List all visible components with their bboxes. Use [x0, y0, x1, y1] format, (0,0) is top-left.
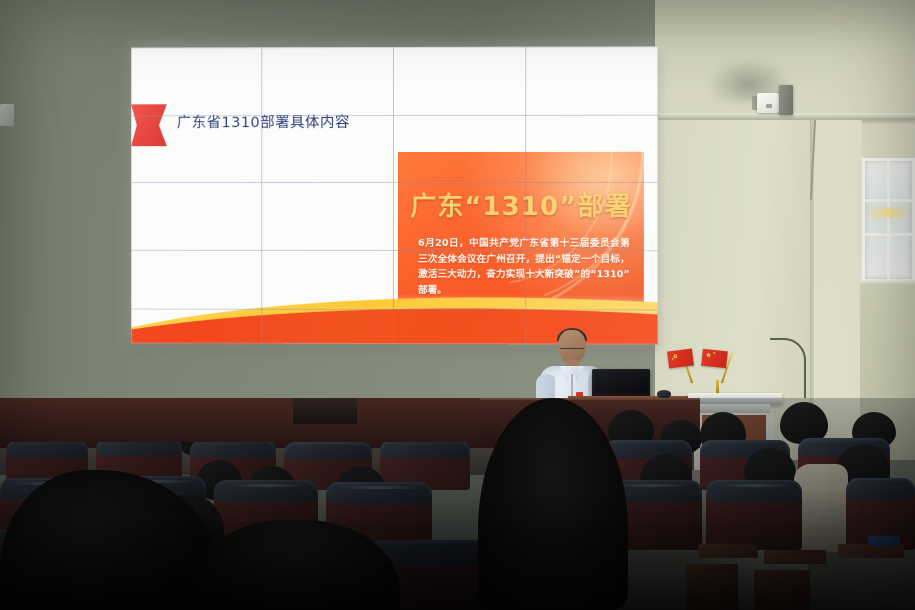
panel-seam-h2	[131, 182, 658, 183]
seat-headrest	[6, 440, 88, 458]
card-body-text: 6月20日，中国共产党广东省第十三届委员会第三次全体会议在广州召开，提出“锚定一…	[418, 236, 630, 298]
glasses-icon	[560, 343, 584, 349]
wall-box-left	[0, 104, 14, 126]
desktop-monitor	[592, 369, 650, 399]
seat-highlight	[226, 484, 308, 487]
star-icon: ★	[705, 352, 712, 360]
ceiling-shadow	[655, 0, 915, 48]
slide-flag-accent-icon	[131, 104, 167, 146]
small-star-icon: ★	[712, 352, 716, 356]
seat-armrest	[764, 550, 826, 564]
window-mullion-v1	[887, 161, 890, 279]
seat-highlight	[338, 486, 422, 489]
cpc-party-flag-icon: ☭	[667, 349, 694, 369]
window-light-reflection	[866, 208, 911, 218]
video-wall-screen[interactable]: 广东省1310部署具体内容 广东“1310”部署 6月20日，中国共产党广东省第…	[131, 46, 658, 344]
seat-highlight	[614, 484, 692, 487]
wall-speaker-icon	[779, 85, 793, 115]
seat-armrest	[838, 544, 904, 558]
seat-headrest	[604, 440, 692, 458]
computer-mouse-icon	[657, 390, 671, 398]
wireless-access-point-icon	[757, 93, 779, 113]
stage-dark-insert	[293, 398, 357, 424]
lecture-hall-photo: 广东省1310部署具体内容 广东“1310”部署 6月20日，中国共产党广东省第…	[0, 0, 915, 610]
panel-seam-v3	[525, 47, 526, 345]
seat-armrest	[698, 544, 758, 558]
panel-seam-h3	[131, 250, 658, 251]
slide-canvas: 广东省1310部署具体内容 广东“1310”部署 6月20日，中国共产党广东省第…	[131, 46, 658, 344]
beige-jacket-on-seat	[794, 464, 848, 552]
seat-headrest	[380, 440, 470, 458]
seat-headrest	[284, 442, 372, 460]
seat-highlight	[718, 484, 792, 487]
blue-book-on-armrest	[868, 536, 900, 546]
stage-back-wall	[0, 398, 480, 442]
panel-seam-h1	[131, 115, 658, 117]
seat-headrest	[190, 440, 276, 458]
prc-national-flag-icon: ★ ★	[701, 349, 728, 369]
hammer-sickle-icon: ☭	[670, 353, 678, 362]
panel-seam-v1	[261, 47, 262, 343]
hall-window	[862, 158, 915, 282]
gooseneck-microphone-icon	[770, 338, 806, 398]
card-title: 广东“1310”部署	[398, 186, 644, 223]
seat-side-panel	[686, 564, 738, 610]
seat-side-panel	[754, 570, 810, 610]
panel-seam-v2	[393, 47, 394, 344]
monitor-screen	[594, 371, 648, 393]
seat-headrest	[846, 478, 915, 500]
